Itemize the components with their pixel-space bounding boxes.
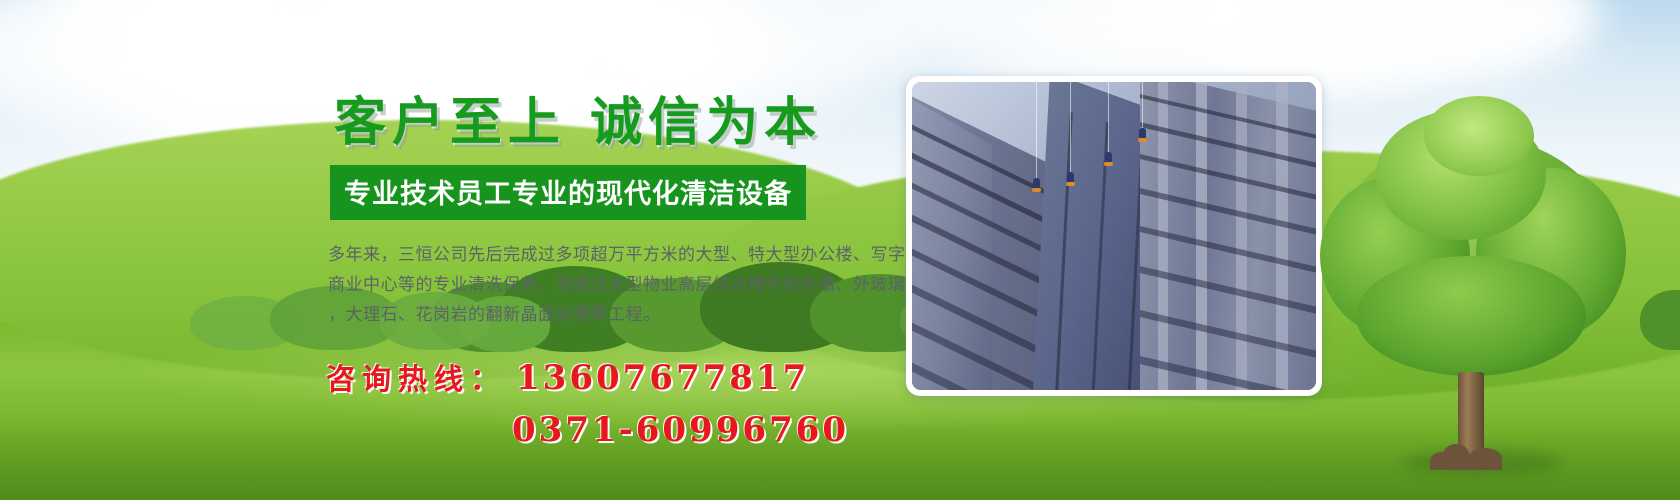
decorative-tree	[1316, 80, 1626, 470]
high-rise-facade-cleaning-photo	[912, 82, 1316, 390]
copy-block: 客户至上 诚信为本 专业技术员工专业的现代化清洁设备 多年来，三恒公司先后完成过…	[318, 96, 918, 450]
paragraph-line-1: 多年来，三恒公司先后完成过多项超万平方米的大型、特大型办公楼、写字楼和	[328, 240, 894, 270]
hotline-mobile-number: 13607677817	[516, 358, 809, 398]
hotline-landline-number: 0371-60996760	[512, 410, 849, 450]
building-photo-frame[interactable]	[906, 76, 1322, 396]
rope-access-worker-1	[1033, 178, 1040, 190]
hotline-primary: 咨询热线：13607677817	[326, 356, 918, 398]
rope-access-worker-4	[1139, 128, 1146, 140]
hotline-label: 咨询热线：	[326, 362, 506, 396]
promo-banner: 客户至上 诚信为本 专业技术员工专业的现代化清洁设备 多年来，三恒公司先后完成过…	[0, 0, 1680, 500]
hotline-secondary: 0371-60996760	[502, 410, 918, 450]
description-paragraph: 多年来，三恒公司先后完成过多项超万平方米的大型、特大型办公楼、写字楼和 商业中心…	[328, 240, 894, 330]
page-title: 客户至上 诚信为本	[334, 96, 918, 151]
subtitle-bar: 专业技术员工专业的现代化清洁设备	[330, 165, 806, 220]
background-treeline-right	[1640, 260, 1680, 350]
rope-access-worker-3	[1105, 152, 1112, 164]
rope-access-worker-2	[1067, 172, 1074, 184]
paragraph-line-2: 商业中心等的专业清洗保养。完成过大型物业高层综合楼宇的外墙、外玻璃清洗	[328, 270, 894, 300]
hotline-block: 咨询热线：13607677817 0371-60996760	[326, 356, 918, 450]
paragraph-line-3: ，大理石、花岗岩的翻新晶面处理等工程。	[328, 300, 894, 330]
